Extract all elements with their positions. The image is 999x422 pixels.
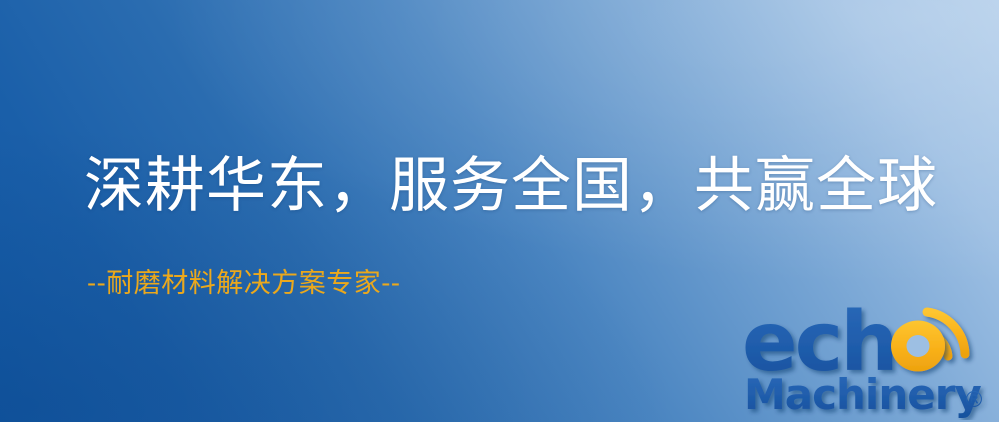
page-title: 深耕华东，服务全国，共赢全球 (84, 152, 938, 220)
logo-tagline: Machinery ® (744, 370, 985, 419)
banner-subtitle: --耐磨材料解决方案专家-- (87, 268, 401, 300)
hero-banner: 深耕华东，服务全国，共赢全球 --耐磨材料解决方案专家-- (0, 0, 999, 422)
echo-machinery-logo: ech Machinery ® (742, 296, 994, 420)
svg-text:®: ® (963, 388, 985, 413)
svg-text:Machinery: Machinery (744, 370, 981, 419)
logo-letter-o (891, 321, 945, 372)
